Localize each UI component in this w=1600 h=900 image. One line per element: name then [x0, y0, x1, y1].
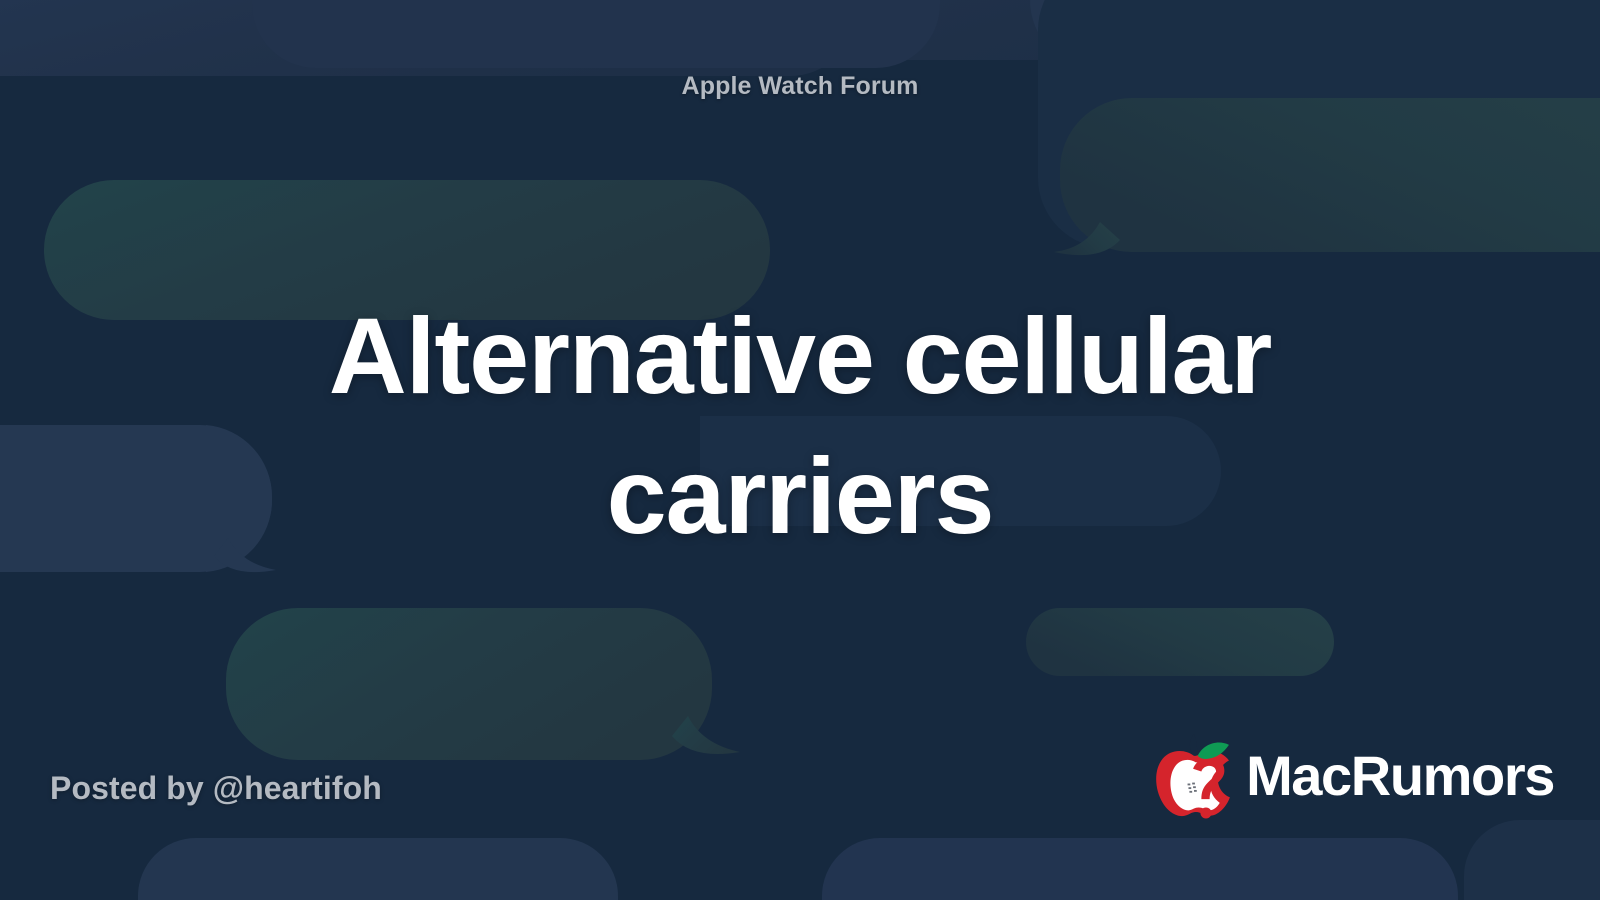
- page-title: Alternative cellular carriers: [150, 286, 1450, 567]
- posted-by-label: Posted by @heartifoh: [50, 770, 382, 807]
- forum-name: Apple Watch Forum: [0, 72, 1600, 101]
- page-title-line-2: carriers: [150, 426, 1450, 566]
- question-mark-dot: [1201, 807, 1212, 818]
- macrumors-wordmark: MacRumors: [1246, 748, 1554, 808]
- page-title-line-1: Alternative cellular: [150, 286, 1450, 426]
- macrumors-social-card: Apple Watch Forum Alternative cellular c…: [0, 0, 1600, 900]
- macrumors-brand-logo: MacRumors: [1148, 732, 1554, 824]
- macrumors-apple-icon: [1148, 732, 1240, 824]
